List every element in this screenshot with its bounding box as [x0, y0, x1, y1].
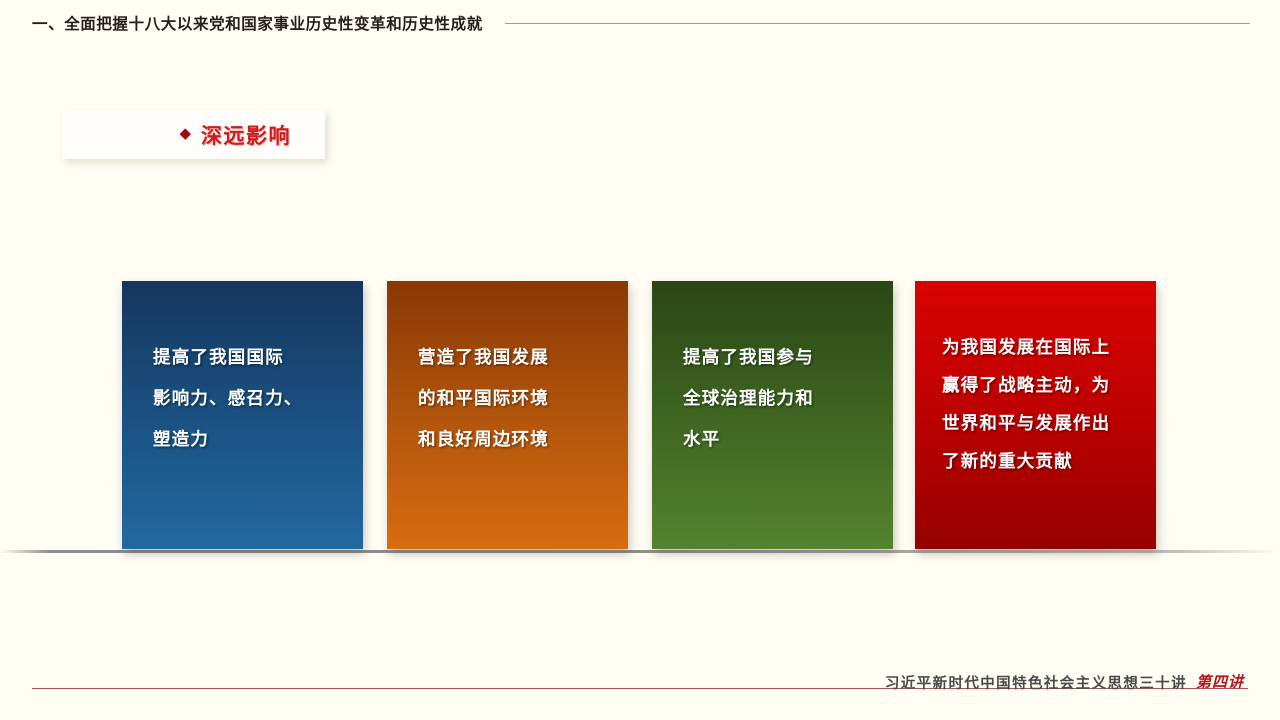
- card-text-line: 全球治理能力和: [683, 378, 873, 419]
- diamond-bullet-icon: ◆: [179, 126, 191, 141]
- card-text-line: 影响力、感召力、: [153, 378, 343, 419]
- card-text-line: 塑造力: [153, 419, 343, 460]
- card-text-line: 为我国发展在国际上: [942, 328, 1142, 366]
- header-divider-rule: [505, 23, 1250, 24]
- content-card-global-governance: 提高了我国参与 全球治理能力和 水平: [652, 281, 893, 549]
- slide-header: 一、全面把握十八大以来党和国家事业历史性变革和历史性成就: [0, 0, 1280, 46]
- footer-series-title: 习近平新时代中国特色社会主义思想三十讲: [885, 672, 1187, 693]
- section-label-text: 深远影响: [201, 120, 291, 150]
- card-text-block: 提高了我国国际 影响力、感召力、 塑造力: [153, 337, 343, 460]
- card-text-block: 营造了我国发展 的和平国际环境 和良好周边环境: [418, 337, 608, 460]
- section-label-box: ◆ 深远影响: [62, 110, 325, 159]
- card-text-block: 为我国发展在国际上 赢得了战略主动，为 世界和平与发展作出 了新的重大贡献: [942, 328, 1142, 480]
- content-card-strategic-initiative: 为我国发展在国际上 赢得了战略主动，为 世界和平与发展作出 了新的重大贡献: [915, 281, 1156, 549]
- card-text-block: 提高了我国参与 全球治理能力和 水平: [683, 337, 873, 460]
- card-text-line: 了新的重大贡献: [942, 442, 1142, 480]
- card-text-line: 的和平国际环境: [418, 378, 608, 419]
- card-text-line: 水平: [683, 419, 873, 460]
- shelf-baseline: [0, 550, 1280, 553]
- card-text-line: 世界和平与发展作出: [942, 404, 1142, 442]
- card-text-line: 提高了我国国际: [153, 337, 343, 378]
- card-text-line: 提高了我国参与: [683, 337, 873, 378]
- content-card-peaceful-environment: 营造了我国发展 的和平国际环境 和良好周边环境: [387, 281, 628, 549]
- card-row: 提高了我国国际 影响力、感召力、 塑造力 营造了我国发展 的和平国际环境 和良好…: [122, 281, 1156, 549]
- page-title: 一、全面把握十八大以来党和国家事业历史性变革和历史性成就: [32, 12, 483, 34]
- footer-meta: 习近平新时代中国特色社会主义思想三十讲 第四讲: [885, 672, 1244, 693]
- card-text-line: 和良好周边环境: [418, 419, 608, 460]
- card-text-line: 赢得了战略主动，为: [942, 366, 1142, 404]
- footer-lecture-label: 第四讲: [1196, 671, 1244, 692]
- card-text-line: 营造了我国发展: [418, 337, 608, 378]
- content-card-international-influence: 提高了我国国际 影响力、感召力、 塑造力: [122, 281, 363, 549]
